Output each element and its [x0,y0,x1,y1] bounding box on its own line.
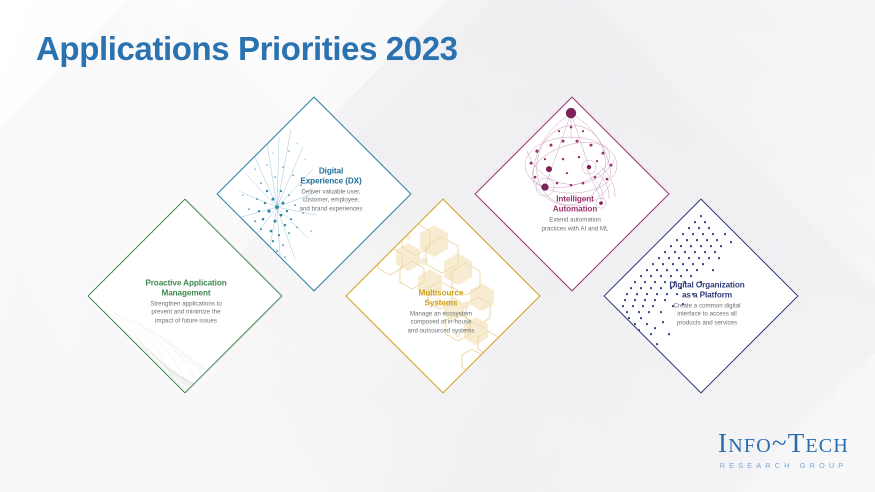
logo-ech: ECH [805,435,849,457]
card-desc-line2: composed of in-house [385,318,497,326]
logo-tagline: RESEARCH GROUP [718,461,849,470]
card-description: Strengthen applications to prevent and m… [130,300,242,324]
card-title: Proactive Application Management [130,278,242,297]
card-desc-line2: customer, employee, [275,196,387,204]
card-desc-line1: Deliver valuable user, [275,188,387,196]
card-title-line1: Proactive Application [130,278,242,288]
card-title-line2: as a Platform [651,290,763,300]
card-desc-line1: Create a common digital [651,302,763,310]
card-description: Manage an ecosystem composed of in-house… [385,310,497,334]
card-title-line2: Experience (DX) [275,176,387,186]
card-desc-line2: prevent and minimize the [130,308,242,316]
card-desc-line1: Extend automation [519,216,631,224]
card-desc-line1: Strengthen applications to [130,300,242,308]
card-description: Extend automation practices with AI and … [519,216,631,232]
card-desc-line3: and outsourced systems [385,326,497,334]
info-tech-logo: INFO~TECH RESEARCH GROUP [718,430,849,470]
card-desc-line3: and brand experiences [275,204,387,212]
logo-wordmark: INFO~TECH [718,430,849,457]
logo-nfo: NFO [728,435,772,457]
logo-tilde: ~ [772,428,788,458]
page-title: Applications Priorities 2023 [36,30,458,68]
card-title: Intelligent Automation [519,194,631,213]
card-title: Multisource Systems [385,288,497,307]
card-desc-line2: interface to access all [651,310,763,318]
card-title-line1: Digital Organization [651,280,763,290]
card-description: Deliver valuable user, customer, employe… [275,188,387,212]
card-title-line1: Multisource [385,288,497,298]
card-desc-line3: impact of future issues [130,316,242,324]
card-desc-line3: products and services [651,318,763,326]
card-description: Create a common digital interface to acc… [651,302,763,326]
logo-t: T [788,428,806,458]
logo-i: I [718,428,728,458]
card-title-line2: Management [130,288,242,298]
card-title-line1: Intelligent [519,194,631,204]
card-title-line2: Automation [519,204,631,214]
card-desc-line1: Manage an ecosystem [385,310,497,318]
card-title: Digital Experience (DX) [275,166,387,185]
card-title-line1: Digital [275,166,387,176]
card-title-line2: Systems [385,298,497,308]
slide-canvas: Applications Priorities 2023 [0,0,875,492]
card-title: Digital Organization as a Platform [651,280,763,299]
card-desc-line2: practices with AI and ML [519,224,631,232]
